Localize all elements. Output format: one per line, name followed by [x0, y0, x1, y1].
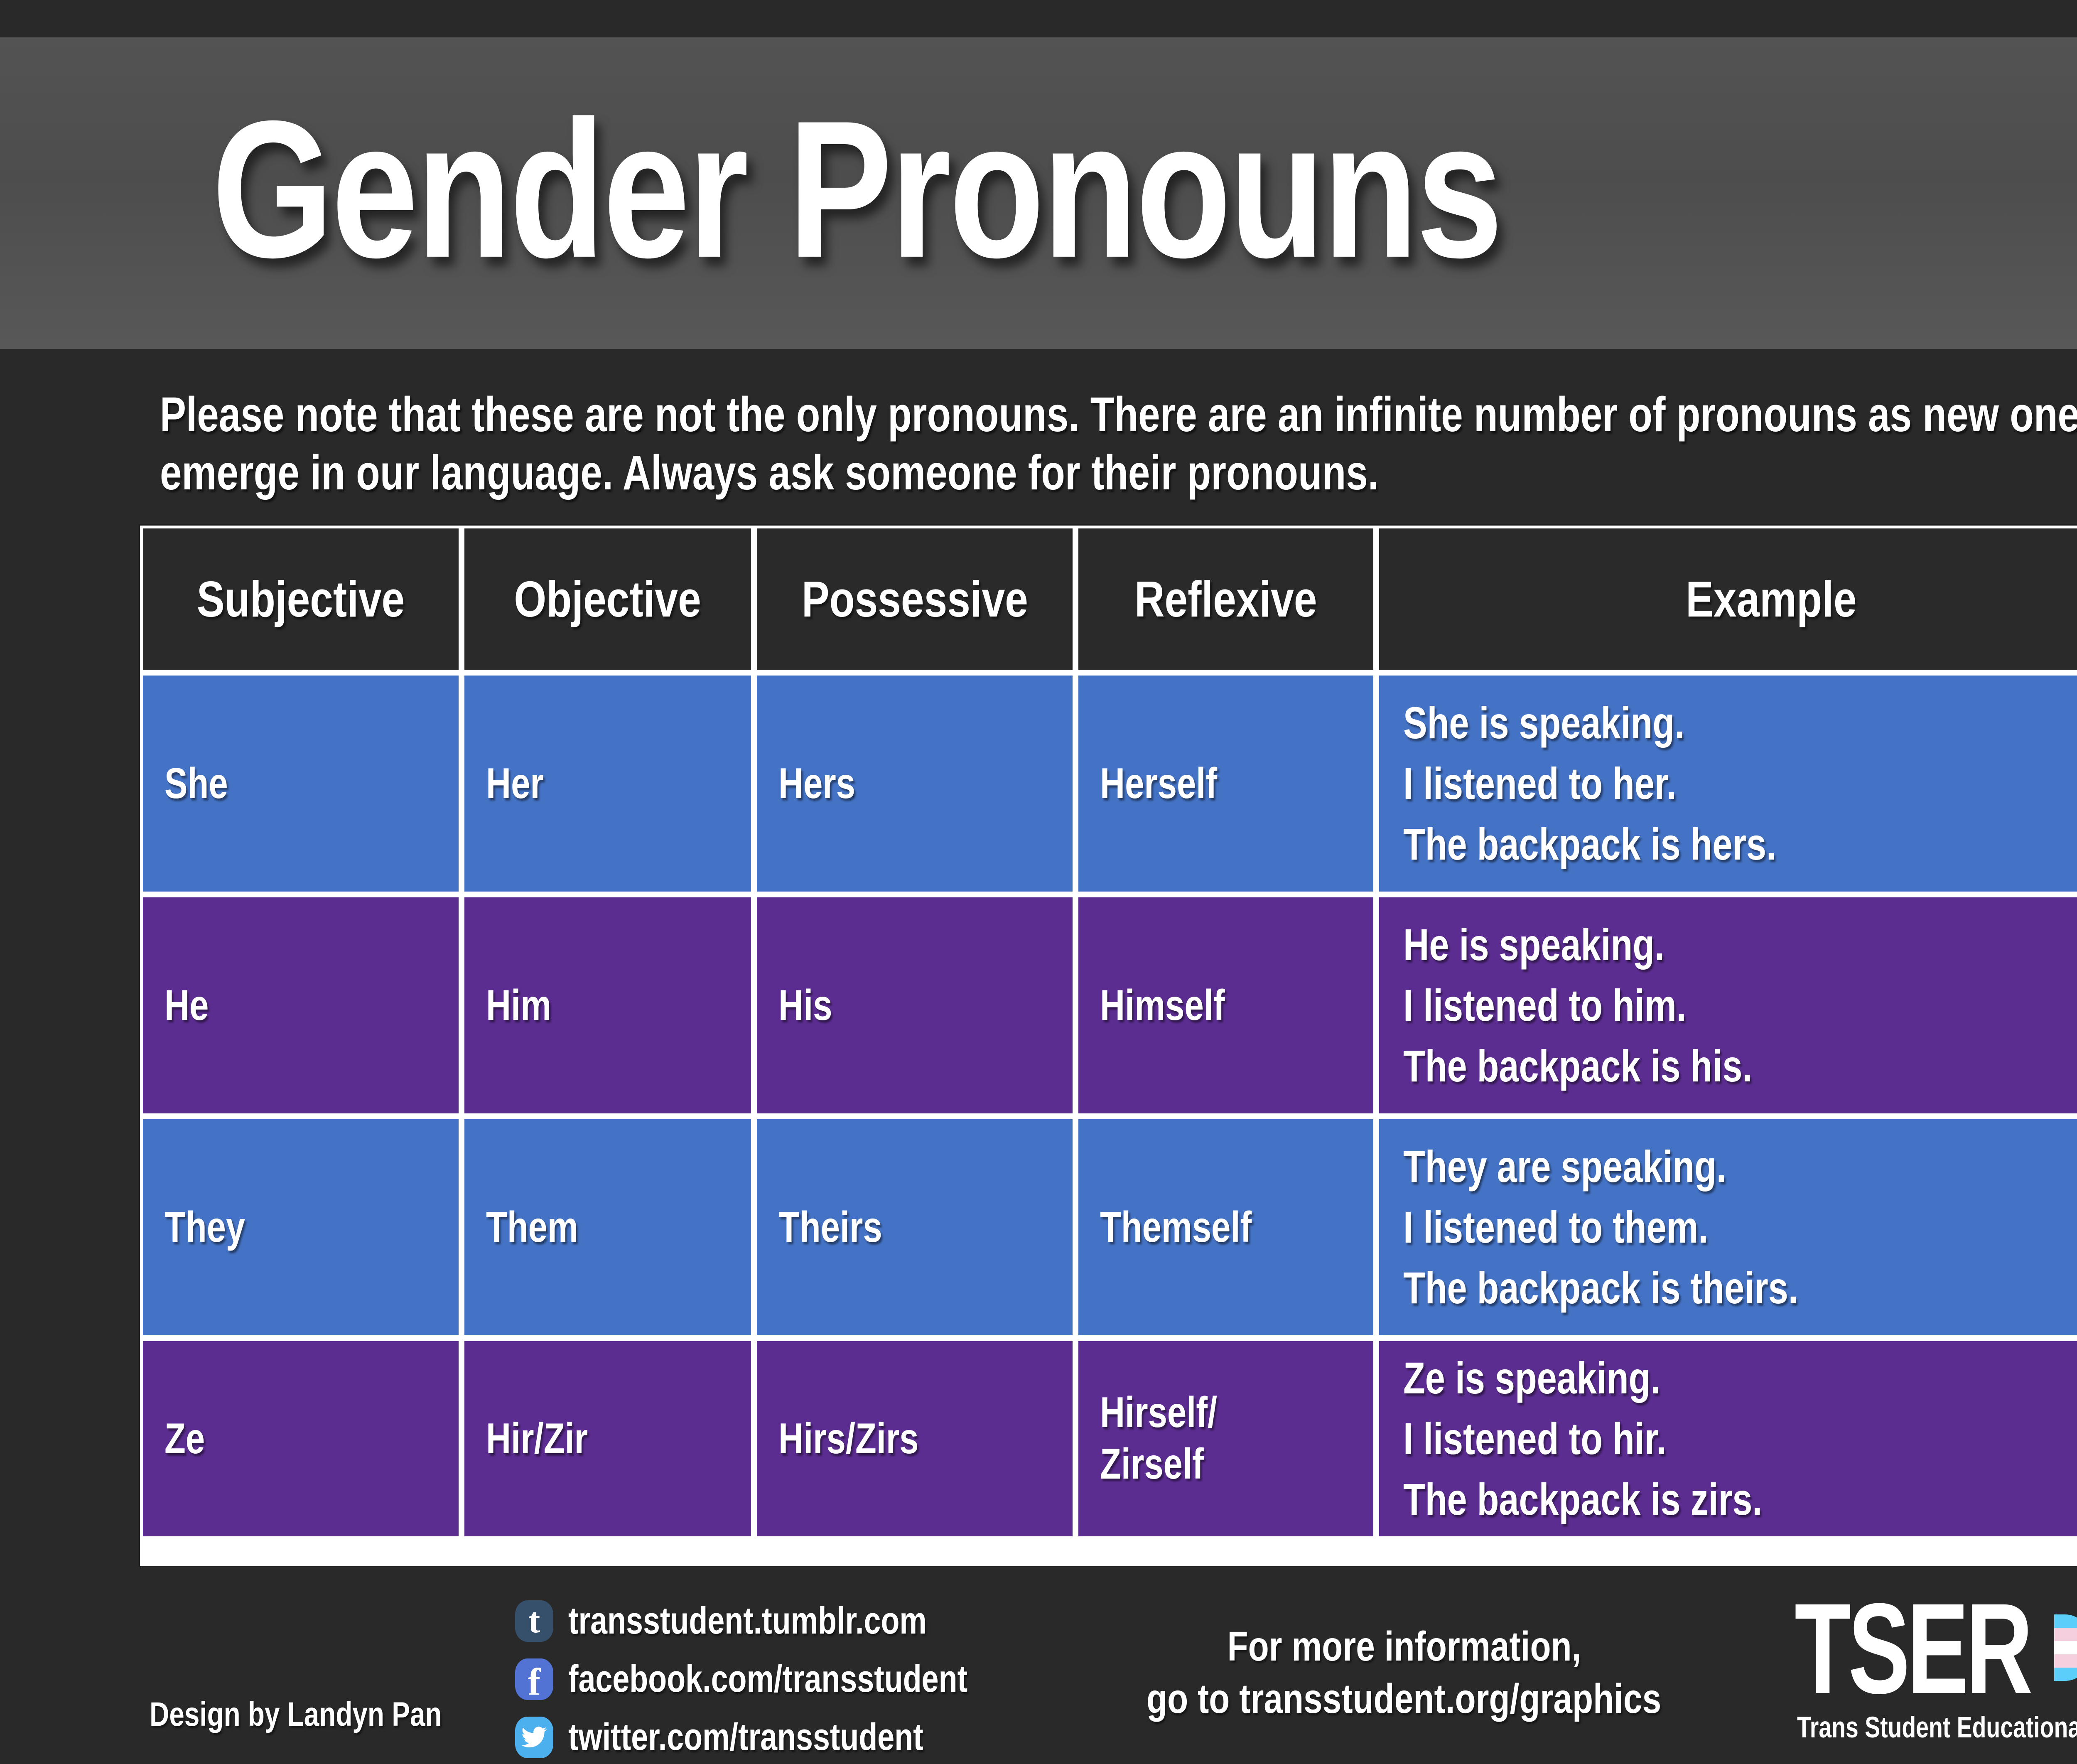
cell-objective: Her — [464, 676, 751, 892]
pronoun-table: Subjective Objective Possessive Reflexiv… — [139, 524, 2077, 1567]
cell-subjective: She — [143, 676, 459, 892]
note-line-1: Please note that these are not the only … — [160, 382, 2077, 447]
social-links: t transstudent.tumblr.com f facebook.com… — [515, 1594, 1076, 1764]
cell-possessive: Hers — [757, 676, 1073, 892]
social-link-facebook[interactable]: f facebook.com/transstudent — [515, 1653, 1076, 1705]
table-row: They Them Theirs Themself They are speak… — [143, 1119, 2077, 1335]
tser-logo-letters: TSER — [1795, 1586, 2077, 1711]
page-title-text: Gender Pronouns — [212, 97, 1501, 283]
cell-example: They are speaking. I listened to them. T… — [1379, 1119, 2077, 1335]
cell-subjective: They — [143, 1119, 459, 1335]
social-link-tumblr[interactable]: t transstudent.tumblr.com — [515, 1594, 1076, 1647]
tser-logo: TSER Trans Student Educational Resources — [1795, 1586, 2077, 1752]
table-row: He Him His Himself He is speaking. I lis… — [143, 897, 2077, 1113]
cell-reflexive: Hirself/ Zirself — [1078, 1341, 1373, 1536]
cell-objective: Hir/Zir — [464, 1341, 751, 1536]
cell-objective: Them — [464, 1119, 751, 1335]
note-line-2: emerge in our language. Always ask someo… — [160, 440, 1379, 506]
table-header-row: Subjective Objective Possessive Reflexiv… — [143, 528, 2077, 670]
column-header-example: Example — [1379, 528, 2077, 670]
page-title: Gender Pronouns — [212, 97, 1823, 283]
column-header-subjective: Subjective — [143, 528, 459, 670]
title-banner: Gender Pronouns — [0, 37, 2077, 349]
cell-objective: Him — [464, 897, 751, 1113]
social-link-twitter[interactable]: twitter.com/transstudent — [515, 1711, 1076, 1764]
cell-subjective: He — [143, 897, 459, 1113]
cell-possessive: Hirs/Zirs — [757, 1341, 1073, 1536]
note-text: Please note that these are not the only … — [160, 382, 2077, 499]
cell-example: He is speaking. I listened to him. The b… — [1379, 897, 2077, 1113]
table-row: Ze Hir/Zir Hirs/Zirs Hirself/ Zirself Ze… — [143, 1341, 2077, 1536]
facebook-url-label: facebook.com/transstudent — [568, 1657, 967, 1701]
infographic-page: Gender Pronouns Please note that these a… — [0, 0, 2077, 1764]
more-information-text: For more information, go to transstudent… — [1068, 1620, 1741, 1725]
cell-reflexive: Herself — [1078, 676, 1373, 892]
column-header-possessive: Possessive — [757, 528, 1073, 670]
twitter-icon[interactable] — [515, 1717, 553, 1758]
cell-reflexive: Themself — [1078, 1119, 1373, 1335]
cell-possessive: His — [757, 897, 1073, 1113]
cell-subjective: Ze — [143, 1341, 459, 1536]
facebook-icon[interactable]: f — [515, 1658, 553, 1700]
tser-logo-subtitle: Trans Student Educational Resources — [1797, 1711, 2077, 1744]
design-credit: Design by Landyn Pan — [150, 1695, 515, 1734]
tser-logo-mark: TSER — [1795, 1586, 2077, 1711]
trans-flag-icon — [2054, 1614, 2077, 1681]
cell-possessive: Theirs — [757, 1119, 1073, 1335]
cell-example: She is speaking. I listened to her. The … — [1379, 676, 2077, 892]
cell-example: Ze is speaking. I listened to hir. The b… — [1379, 1341, 2077, 1536]
cell-reflexive: Himself — [1078, 897, 1373, 1113]
more-info-line-2: go to transstudent.org/graphics — [1147, 1673, 1661, 1725]
column-header-reflexive: Reflexive — [1078, 528, 1373, 670]
more-info-line-1: For more information, — [1227, 1620, 1581, 1673]
column-header-objective: Objective — [464, 528, 751, 670]
tumblr-icon[interactable]: t — [515, 1600, 553, 1642]
twitter-url-label: twitter.com/transstudent — [568, 1715, 923, 1759]
table-row: She Her Hers Herself She is speaking. I … — [143, 676, 2077, 892]
tumblr-url-label: transstudent.tumblr.com — [568, 1599, 927, 1643]
twitter-bird-glyph — [521, 1727, 547, 1748]
